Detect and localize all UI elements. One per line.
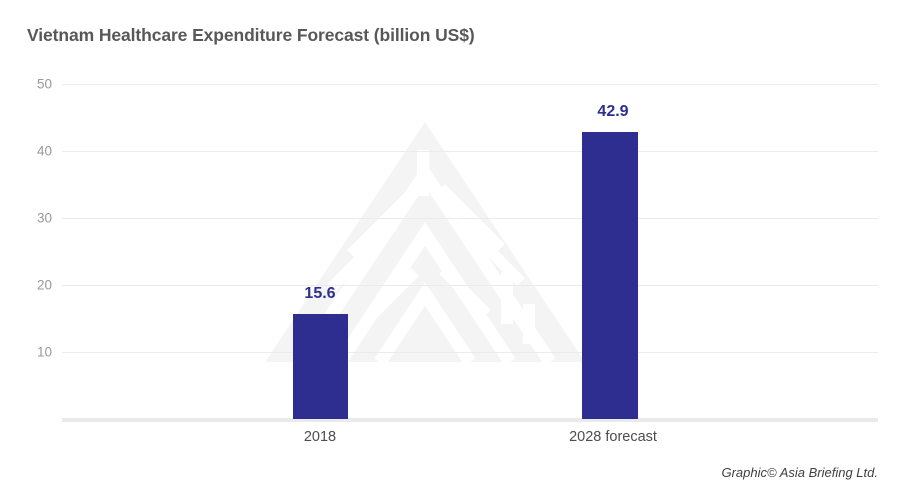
y-axis: 50 40 30 20 10 <box>0 84 52 420</box>
bar-value-2018: 15.6 <box>304 285 335 303</box>
plot-area <box>62 84 878 420</box>
credit-text: Graphic© Asia Briefing Ltd. <box>721 465 878 480</box>
gridline-50 <box>62 84 878 85</box>
bar-value-2028-forecast: 42.9 <box>597 103 628 121</box>
gridline-20 <box>62 285 878 286</box>
gridline-40 <box>62 151 878 152</box>
y-tick-label-20: 20 <box>8 278 52 293</box>
y-tick-label-10: 10 <box>8 345 52 360</box>
x-category-label-2028-forecast: 2028 forecast <box>569 429 657 445</box>
chart-figure: Vietnam Healthcare Expenditure Forecast … <box>0 0 900 492</box>
bar-2028-forecast[interactable] <box>582 132 638 419</box>
page-title: Vietnam Healthcare Expenditure Forecast … <box>27 25 475 46</box>
bar-2018[interactable] <box>293 314 348 419</box>
x-category-label-2018: 2018 <box>304 429 336 445</box>
gridline-30 <box>62 218 878 219</box>
y-tick-label-40: 40 <box>8 144 52 159</box>
y-tick-label-30: 30 <box>8 211 52 226</box>
y-tick-label-50: 50 <box>8 77 52 92</box>
x-axis-baseline <box>62 418 878 422</box>
gridline-10 <box>62 352 878 353</box>
